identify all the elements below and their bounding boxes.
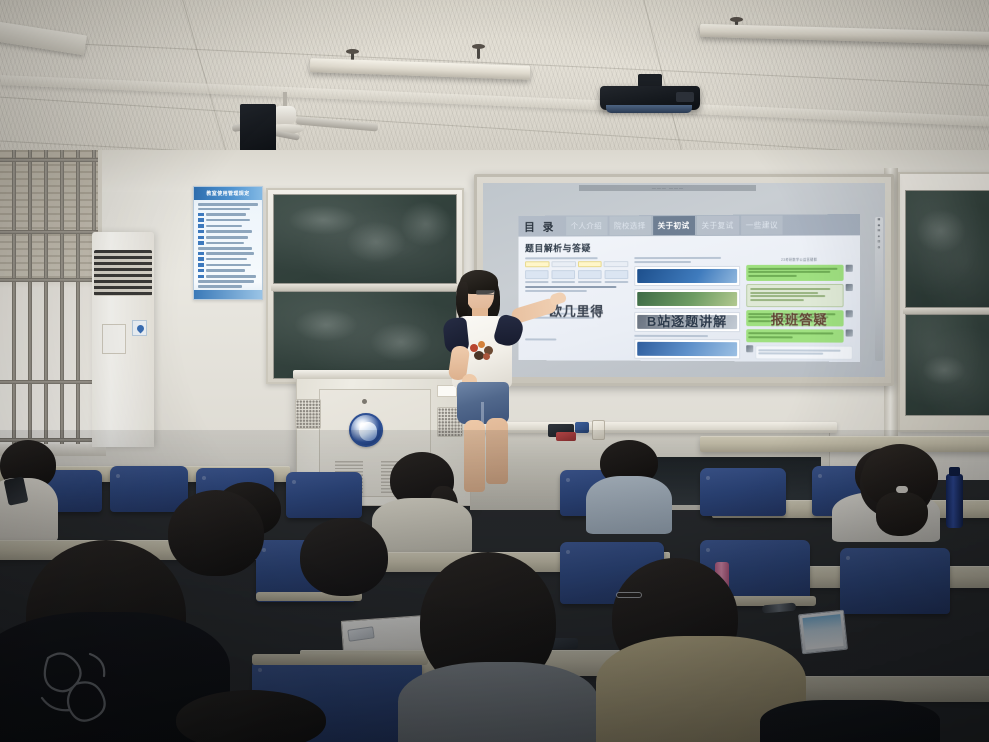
slide-tab-advice[interactable]: 一些建议	[741, 215, 783, 234]
chat-avatar-icon	[846, 310, 853, 317]
student-person-front	[398, 662, 598, 742]
wall-air-conditioner	[92, 232, 154, 447]
student-person	[586, 476, 672, 534]
desk-red-item	[556, 432, 576, 441]
blackboard-right-lower	[905, 314, 989, 416]
window-bar	[12, 150, 16, 450]
student-person-front	[176, 690, 326, 742]
window-bar	[0, 380, 98, 384]
podium-speaker-grille	[295, 399, 321, 429]
light-mount-cap	[730, 17, 743, 22]
slide-navigation: 目 录 个人介绍 院校选择 关于初试 关于复试 一些建议	[518, 214, 860, 237]
wall-poster: 教室使用管理规定	[193, 186, 263, 300]
wall-speaker	[240, 104, 276, 152]
slide-nav-title: 目 录	[524, 218, 556, 234]
window-bar	[76, 150, 80, 450]
window-bar	[0, 158, 98, 162]
presenter-leg-left	[464, 420, 485, 492]
chat-avatar-icon	[846, 284, 853, 291]
poster-body	[198, 203, 258, 290]
ac-vent-grille	[94, 250, 152, 296]
podium-indicator-light	[362, 399, 367, 404]
tablet-screen	[802, 614, 843, 650]
chat-avatar-icon	[846, 265, 853, 272]
screen-topbar-label: ——— ———	[579, 185, 756, 191]
slide-tab-first-exam[interactable]: 关于初试	[653, 216, 695, 235]
ac-label	[102, 324, 126, 354]
poster-footer	[194, 290, 262, 299]
presenter-glasses	[476, 290, 495, 295]
student-desk-row	[700, 436, 989, 452]
chat-group-title: 23考研数学公益答疑群	[746, 257, 853, 262]
window-bar	[0, 230, 98, 234]
light-mount-cap	[472, 44, 485, 49]
classroom-photo: 教室使用管理规定	[0, 0, 989, 742]
student-chair	[286, 472, 362, 518]
student-person	[300, 518, 388, 596]
slide-content: 目 录 个人介绍 院校选择 关于初试 关于复试 一些建议 题目解析与答疑	[518, 214, 860, 362]
presenter-shirt-graphic	[468, 340, 496, 362]
chat-avatar-icon	[746, 345, 753, 352]
university-emblem-logo	[349, 413, 383, 447]
slide-tab-personal[interactable]: 个人介绍	[566, 216, 607, 235]
window-bar	[44, 150, 48, 450]
desk-book-item	[592, 420, 605, 440]
slide-tab-school-choice[interactable]: 院校选择	[609, 216, 651, 235]
student-person-ponytail	[862, 444, 938, 508]
ac-badge-icon	[132, 320, 147, 336]
eyeglasses-icon	[616, 592, 642, 598]
chat-avatar-icon	[846, 330, 853, 337]
window-bar	[28, 150, 32, 450]
window-bar	[60, 150, 64, 450]
blackboard-right-upper	[905, 190, 989, 308]
light-mount-cap	[346, 49, 359, 54]
student-chair	[700, 468, 786, 516]
screen-side-controls[interactable]: ▦◉▤◈▥◍	[875, 217, 883, 361]
presenter-leg-right	[486, 418, 508, 484]
slide-tab-second-exam[interactable]: 关于复试	[697, 216, 739, 235]
eyeglasses	[762, 603, 797, 614]
slide-column-bilibili: B站逐题讲解	[635, 257, 740, 361]
slide-column-chat: 23考研数学公益答疑群	[746, 257, 853, 362]
slide-body: 题目解析与答疑	[518, 235, 860, 362]
fan-blade	[296, 116, 378, 131]
poster-title: 教室使用管理规定	[194, 187, 262, 200]
barred-window	[0, 150, 102, 450]
slide-columns: 欧几里得 B站逐题讲解	[525, 257, 853, 362]
student-person-front	[760, 700, 940, 742]
tshirt-graphic-outline	[30, 640, 140, 740]
desk-blue-item	[575, 422, 589, 433]
window-bar	[0, 278, 98, 282]
blue-water-bottle	[946, 474, 963, 528]
student-chair	[840, 548, 950, 614]
slide-heading: 题目解析与答疑	[525, 240, 853, 254]
ceiling-projector	[600, 86, 700, 116]
